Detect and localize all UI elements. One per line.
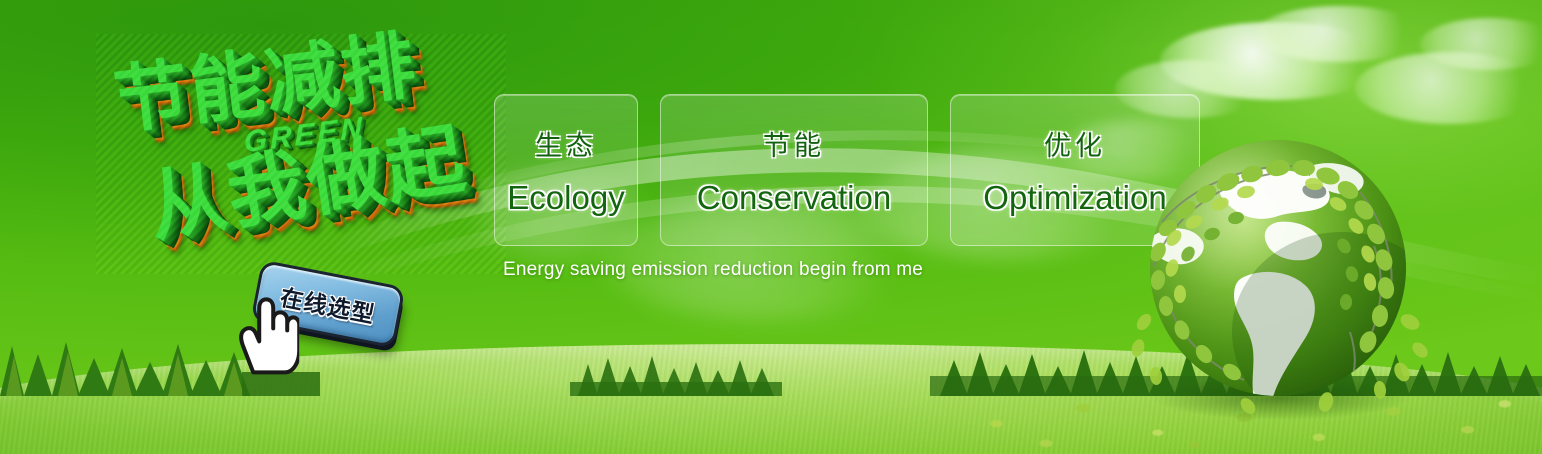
green-energy-hero-banner: 节能减排 GREEN 从我做起 在线选型 生态 Ecology 节能 Conse…: [0, 0, 1542, 454]
vignette-overlay: [0, 0, 1542, 454]
